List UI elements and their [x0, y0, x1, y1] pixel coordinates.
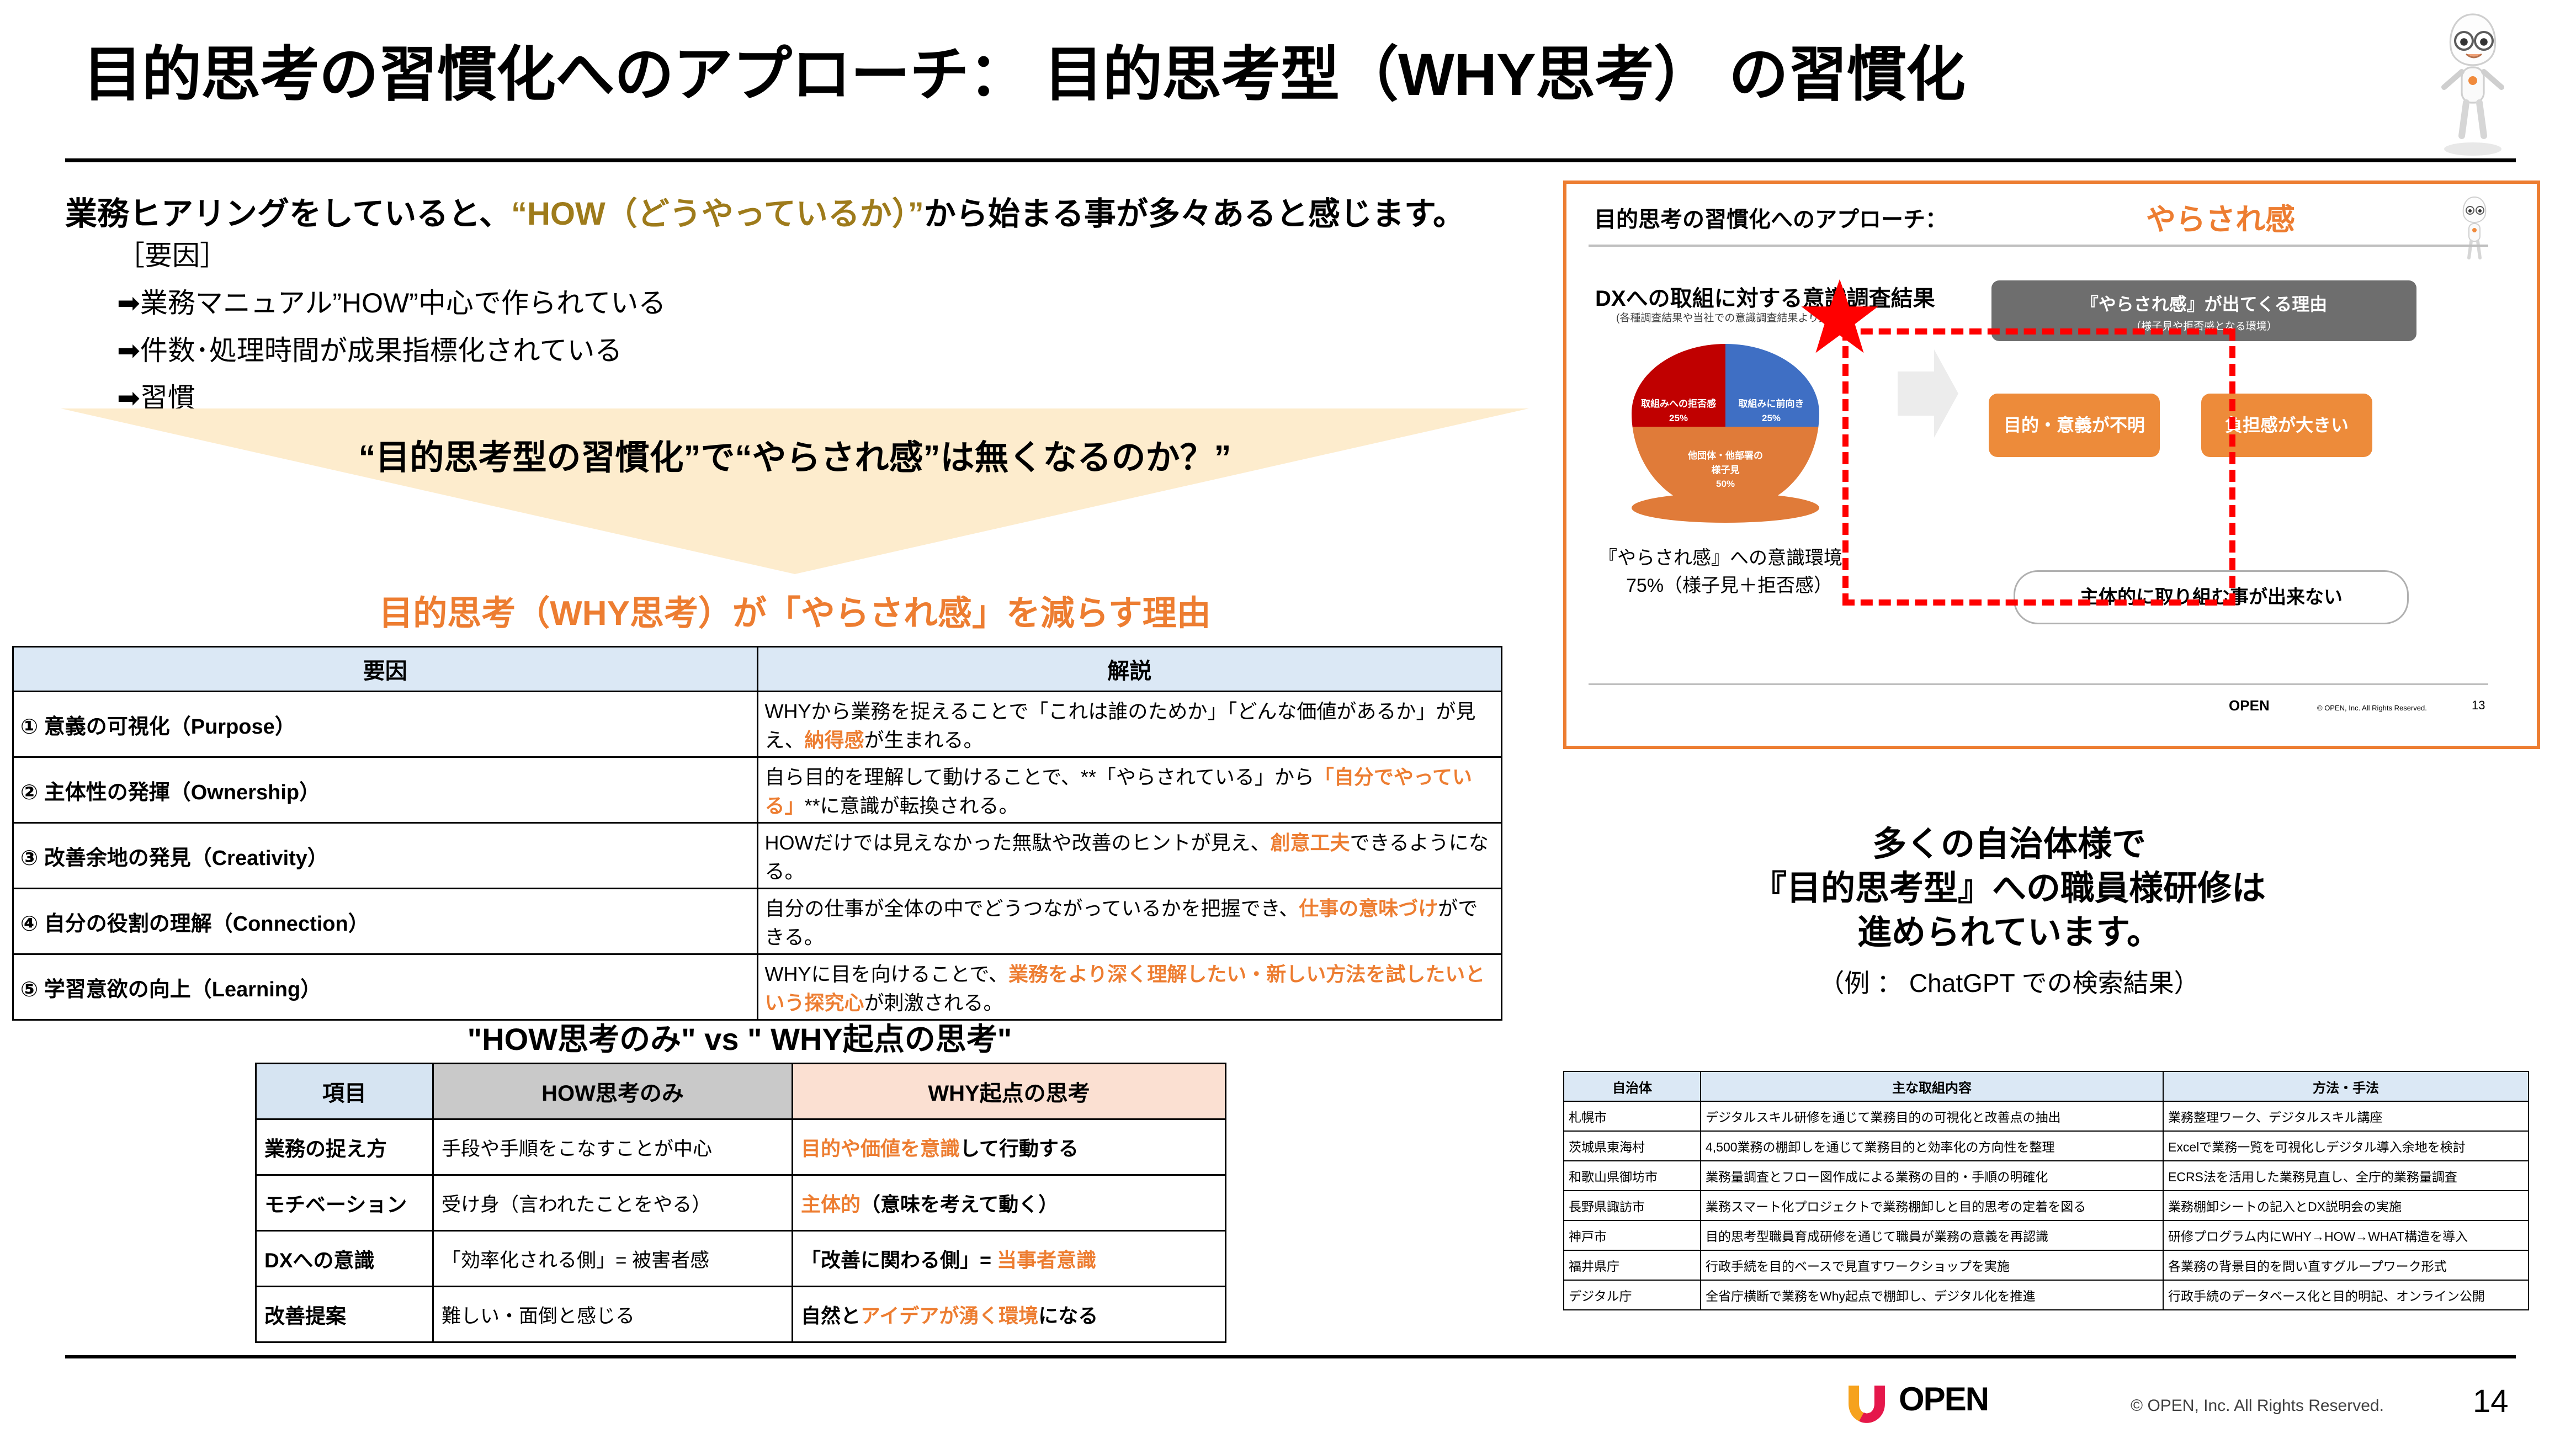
why-post: して行動する: [960, 1137, 1079, 1160]
cell-factor: ④ 自分の役割の理解（Connection）: [13, 889, 758, 954]
desc-highlight: 納得感: [805, 729, 864, 751]
col-header-why: WHY起点の思考: [793, 1064, 1226, 1119]
pie-label-value: 25%: [1669, 413, 1688, 423]
table-header-row: 自治体 主な取組内容 方法・手法: [1564, 1071, 2529, 1101]
pie-label-text: 他団体・他部署の様子見: [1688, 450, 1763, 475]
cell-method: 業務棚卸シートの記入とDX説明会の実施: [2163, 1191, 2529, 1220]
cell-content: 目的思考型職員育成研修を通じて職員が業務の意義を再認識: [1701, 1220, 2163, 1250]
desc-post: **に意識が転換される。: [805, 794, 1019, 817]
embedded-divider: [1589, 245, 2488, 247]
table-row: ② 主体性の発揮（Ownership） 自ら目的を理解して動けることで、**「や…: [13, 757, 1502, 823]
embedded-slide-image: 目的思考の習慣化へのアプローチ： やらされ感 DXへの取組に対する意識調査結果 …: [1563, 181, 2540, 749]
table-row: 長野県諏訪市 業務スマート化プロジェクトで業務棚卸しと目的思考の定着を図る 業務…: [1564, 1191, 2529, 1220]
cell-factor: ① 意義の可視化（Purpose）: [13, 692, 758, 757]
table-row: デジタル庁 全省庁横断で業務をWhy起点で棚卸し、デジタル化を推進 行政手続のデ…: [1564, 1280, 2529, 1310]
desc-post: が刺激される。: [864, 991, 1003, 1014]
cell-desc: 自ら目的を理解して動けることで、**「やらされている」から「自分でやっている」*…: [757, 757, 1502, 823]
mascot-robot-icon-small: [2444, 192, 2505, 269]
table-row: モチベーション 受け身（言われたことをやる） 主体的（意味を考えて動く）: [256, 1175, 1226, 1231]
desc-highlight: 仕事の意味づけ: [1299, 897, 1438, 920]
col-header-item: 項目: [256, 1064, 433, 1119]
why-pre: 自然と: [801, 1304, 861, 1327]
message-line: 多くの自治体様で: [1523, 822, 2495, 867]
survey-title: DXへの取組に対する意識調査結果: [1595, 280, 1935, 312]
embedded-page-number: 13: [2472, 698, 2485, 713]
pie-slice-label-waitsee: 他団体・他部署の様子見 50%: [1684, 449, 1767, 491]
embedded-slide-keyword: やらされ感: [2146, 195, 2295, 238]
embedded-open-logo: OPEN: [2229, 697, 2270, 714]
cell-desc: HOWだけでは見えなかった無駄や改善のヒントが見え、創意工夫できるようになる。: [757, 823, 1502, 889]
cell-why: 「改善に関わる側」= 当事者意識: [793, 1231, 1226, 1287]
cell-how: 難しい・面倒と感じる: [433, 1287, 793, 1342]
comparison-heading: "HOW思考のみ" vs " WHY起点の思考": [254, 1015, 1225, 1059]
why-highlight: 当事者意識: [997, 1249, 1096, 1271]
cell-method: 研修プログラム内にWHY→HOW→WHAT構造を導入: [2163, 1220, 2529, 1250]
embedded-slide-title: 目的思考の習慣化へのアプローチ：: [1594, 201, 1947, 233]
reason-table: 要因 解説 ① 意義の可視化（Purpose） WHYから業務を捉えることで「こ…: [12, 646, 1502, 1021]
table-header-row: 要因 解説: [13, 647, 1502, 692]
desc-pre: 自分の仕事が全体の中でどうつながっているかを把握でき、: [765, 897, 1299, 920]
open-logo-swoosh-icon: [1842, 1383, 1891, 1426]
comparison-table: 項目 HOW思考のみ WHY起点の思考 業務の捉え方 手段や手順をこなすことが中…: [255, 1063, 1226, 1343]
message-line: 『目的思考型』への職員様研修は: [1523, 867, 2495, 911]
reason-callout-title: 『やらされ感』が出てくる理由: [1991, 290, 2416, 316]
reason-section-heading: 目的思考（WHY思考）が「やらされ感」を減らす理由: [61, 585, 1529, 635]
table-row: 札幌市 デジタルスキル研修を通じて業務目的の可視化と改善点の抽出 業務整理ワーク…: [1564, 1101, 2529, 1131]
cell-content: 4,500業務の棚卸しを通じて業務目的と効率化の方向性を整理: [1701, 1131, 2163, 1161]
right-message: 多くの自治体様で 『目的思考型』への職員様研修は 進められています。: [1523, 822, 2495, 955]
lead-paragraph: 業務ヒアリングをしていると、“HOW（どうやっているか）”から始まる事が多々ある…: [65, 188, 1555, 234]
cell-method: 行政手続のデータベース化と目的明記、オンライン公開: [2163, 1280, 2529, 1310]
table-header-row: 項目 HOW思考のみ WHY起点の思考: [256, 1064, 1226, 1119]
lead-highlight: “HOW（どうやっているか）”: [511, 196, 924, 232]
cell-municipality: 福井県庁: [1564, 1250, 1701, 1280]
cell-municipality: デジタル庁: [1564, 1280, 1701, 1310]
cell-desc: WHYから業務を捉えることで「これは誰のためか」「どんな価値があるか」が見え、納…: [757, 692, 1502, 757]
pie-slice-label-positive: 取組みに前向き 25%: [1730, 397, 1813, 425]
cell-how: 受け身（言われたことをやる）: [433, 1175, 793, 1231]
pie-label-value: 25%: [1762, 413, 1781, 423]
why-post: （意味を考えて動く）: [861, 1193, 1058, 1216]
pie-slice-label-reject: 取組みへの拒否感 25%: [1637, 397, 1720, 425]
cell-desc: 自分の仕事が全体の中でどうつながっているかを把握でき、仕事の意味づけができる。: [757, 889, 1502, 954]
table-row: 福井県庁 行政手続を目的ベースで見直すワークショップを実施 各業務の背景目的を問…: [1564, 1250, 2529, 1280]
red-dashed-highlight: [1842, 328, 2235, 606]
embedded-footer-divider: [1589, 683, 2488, 685]
survey-caption-line1: 『やらされ感』への意識環境: [1598, 543, 1842, 570]
col-header-content: 主な取組内容: [1701, 1071, 2163, 1101]
cell-content: 全省庁横断で業務をWhy起点で棚卸し、デジタル化を推進: [1701, 1280, 2163, 1310]
footer-divider: [65, 1355, 2516, 1358]
pie-label-text: 取組みへの拒否感: [1641, 399, 1716, 409]
table-row: ⑤ 学習意欲の向上（Learning） WHYに目を向けることで、業務をより深く…: [13, 954, 1502, 1020]
desc-highlight: 創意工夫: [1270, 831, 1350, 854]
table-row: 神戸市 目的思考型職員育成研修を通じて職員が業務の意義を再認識 研修プログラム内…: [1564, 1220, 2529, 1250]
why-highlight: 主体的: [801, 1193, 861, 1216]
cell-content: デジタルスキル研修を通じて業務目的の可視化と改善点の抽出: [1701, 1101, 2163, 1131]
cell-factor: ② 主体性の発揮（Ownership）: [13, 757, 758, 823]
cell-method: ECRS法を活用した業務見直し、全庁的業務量調査: [2163, 1161, 2529, 1191]
col-header-municipality: 自治体: [1564, 1071, 1701, 1101]
cell-desc: WHYに目を向けることで、業務をより深く理解したい・新しい方法を試したいという探…: [757, 954, 1502, 1020]
table-row: DXへの意識 「効率化される側」= 被害者感 「改善に関わる側」= 当事者意識: [256, 1231, 1226, 1287]
cell-method: 業務整理ワーク、デジタルスキル講座: [2163, 1101, 2529, 1131]
table-row: 茨城県東海村 4,500業務の棚卸しを通じて業務目的と効率化の方向性を整理 Ex…: [1564, 1131, 2529, 1161]
table-row: ④ 自分の役割の理解（Connection） 自分の仕事が全体の中でどうつながっ…: [13, 889, 1502, 954]
chevron-banner-text: “目的思考型の習慣化”で“やらされ感”は無くなるのか？”: [61, 428, 1529, 489]
why-post: になる: [1038, 1304, 1098, 1327]
page-title: 目的思考の習慣化へのアプローチ： 目的思考型（WHY思考） の習慣化: [83, 33, 2263, 116]
survey-caption-line2: 75%（様子見＋拒否感）: [1626, 570, 1833, 597]
cell-municipality: 神戸市: [1564, 1220, 1701, 1250]
footer-page-number: 14: [2473, 1383, 2509, 1420]
cell-why: 主体的（意味を考えて動く）: [793, 1175, 1226, 1231]
why-highlight: 目的や価値を意識: [801, 1137, 960, 1160]
cell-method: Excelで業務一覧を可視化しデジタル導入余地を検討: [2163, 1131, 2529, 1161]
pie-chart: 取組みへの拒否感 25% 取組みに前向き 25% 他団体・他部署の様子見 50%: [1632, 344, 1819, 509]
desc-post: が生まれる。: [864, 729, 984, 751]
desc-pre: HOWだけでは見えなかった無駄や改善のヒントが見え、: [765, 831, 1271, 854]
title-divider: [65, 158, 2516, 162]
message-line: 進められています。: [1523, 911, 2495, 955]
embedded-copyright: © OPEN, Inc. All Rights Reserved.: [2317, 704, 2427, 712]
cell-why: 自然とアイデアが湧く環境になる: [793, 1287, 1226, 1342]
mascot-robot-icon: [2418, 6, 2528, 160]
factor-item: ➡業務マニュアル”HOW”中心で作られている: [117, 279, 1442, 327]
table-row: ③ 改善余地の発見（Creativity） HOWだけでは見えなかった無駄や改善…: [13, 823, 1502, 889]
lead-suffix: から始まる事が多々あると感じます。: [924, 196, 1465, 232]
table-row: 業務の捉え方 手段や手順をこなすことが中心 目的や価値を意識して行動する: [256, 1119, 1226, 1175]
cell-item: 業務の捉え方: [256, 1119, 433, 1175]
desc-pre: WHYに目を向けることで、: [765, 963, 1008, 985]
why-highlight: アイデアが湧く環境: [861, 1304, 1038, 1327]
cell-item: 改善提案: [256, 1287, 433, 1342]
cell-municipality: 茨城県東海村: [1564, 1131, 1701, 1161]
cell-why: 目的や価値を意識して行動する: [793, 1119, 1226, 1175]
cell-method: 各業務の背景目的を問い直すグループワーク形式: [2163, 1250, 2529, 1280]
cell-municipality: 札幌市: [1564, 1101, 1701, 1131]
pie-label-value: 50%: [1716, 479, 1735, 489]
desc-pre: 自ら目的を理解して動けることで、**「やらされている」から: [765, 766, 1314, 788]
cell-content: 業務量調査とフロー図作成による業務の目的・手順の明確化: [1701, 1161, 2163, 1191]
cell-how: 手段や手順をこなすことが中心: [433, 1119, 793, 1175]
open-logo-text: OPEN: [1899, 1380, 1988, 1418]
table-row: 改善提案 難しい・面倒と感じる 自然とアイデアが湧く環境になる: [256, 1287, 1226, 1342]
municipality-table: 自治体 主な取組内容 方法・手法 札幌市 デジタルスキル研修を通じて業務目的の可…: [1563, 1071, 2529, 1310]
right-message-sub: （例 ： ChatGPT での検索結果）: [1523, 963, 2495, 1000]
cell-municipality: 和歌山県御坊市: [1564, 1161, 1701, 1191]
slide-root: 目的思考の習慣化へのアプローチ： 目的思考型（WHY思考） の習慣化 業務ヒアリ…: [0, 0, 2576, 1449]
lead-prefix: 業務ヒアリングをしていると、: [65, 196, 511, 232]
factors-label: ［要因］: [117, 232, 1442, 279]
cell-factor: ③ 改善余地の発見（Creativity）: [13, 823, 758, 889]
table-row: ① 意義の可視化（Purpose） WHYから業務を捉えることで「これは誰のため…: [13, 692, 1502, 757]
cell-municipality: 長野県諏訪市: [1564, 1191, 1701, 1220]
cell-content: 行政手続を目的ベースで見直すワークショップを実施: [1701, 1250, 2163, 1280]
table-row: 和歌山県御坊市 業務量調査とフロー図作成による業務の目的・手順の明確化 ECRS…: [1564, 1161, 2529, 1191]
cell-content: 業務スマート化プロジェクトで業務棚卸しと目的思考の定着を図る: [1701, 1191, 2163, 1220]
why-pre: 「改善に関わる側」=: [801, 1249, 997, 1271]
col-header-desc: 解説: [757, 647, 1502, 692]
col-header-method: 方法・手法: [2163, 1071, 2529, 1101]
cell-item: モチベーション: [256, 1175, 433, 1231]
factor-item: ➡件数･処理時間が成果指標化されている: [117, 327, 1442, 374]
pie-label-text: 取組みに前向き: [1739, 399, 1804, 409]
cell-how: 「効率化される側」= 被害者感: [433, 1231, 793, 1287]
cell-factor: ⑤ 学習意欲の向上（Learning）: [13, 954, 758, 1020]
footer-copyright: © OPEN, Inc. All Rights Reserved.: [2131, 1397, 2384, 1415]
factors-list: ［要因］ ➡業務マニュアル”HOW”中心で作られている ➡件数･処理時間が成果指…: [117, 232, 1442, 422]
col-header-how: HOW思考のみ: [433, 1064, 793, 1119]
cell-item: DXへの意識: [256, 1231, 433, 1287]
col-header-factor: 要因: [13, 647, 758, 692]
